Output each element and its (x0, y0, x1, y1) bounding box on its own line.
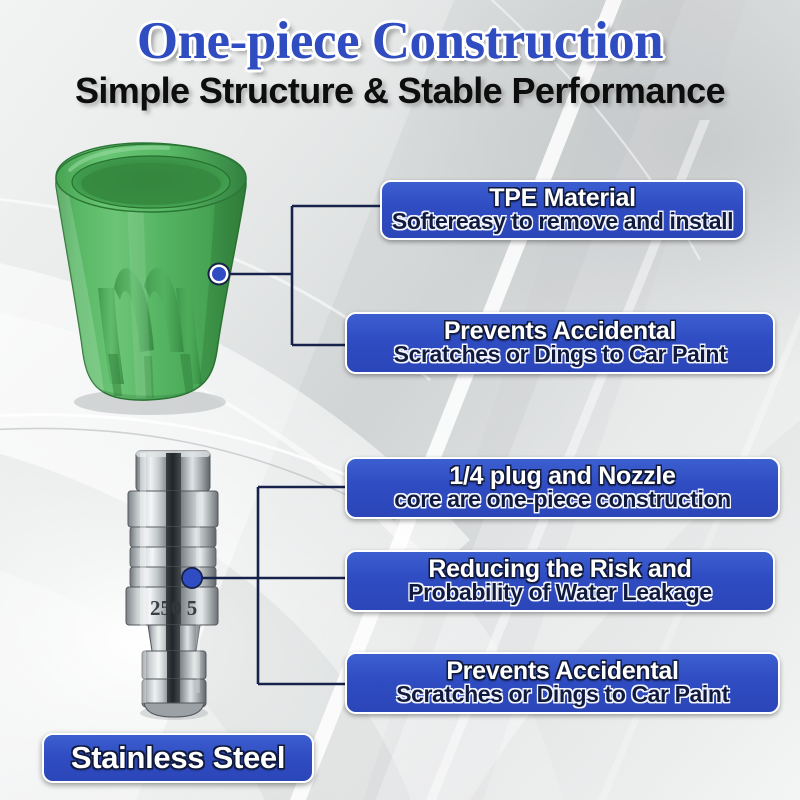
marker-steel-plug (181, 567, 203, 589)
infographic-canvas: One-piece Construction Simple Structure … (0, 0, 800, 800)
callout-tpe-material[interactable]: TPE Material Softereasy to remove and in… (380, 180, 745, 240)
page-subtitle: Simple Structure & Stable Performance (0, 70, 800, 112)
heading-block: One-piece Construction Simple Structure … (0, 14, 800, 112)
callout-line2: Probability of Water Leakage (408, 580, 712, 604)
callout-line2: Scratches or Dings to Car Paint (396, 682, 729, 706)
callout-prevents-accidental-top[interactable]: Prevents Accidental Scratches or Dings t… (345, 312, 775, 374)
callout-line2: Softereasy to remove and install (392, 209, 733, 233)
callout-prevents-accidental-bottom[interactable]: Prevents Accidental Scratches or Dings t… (345, 652, 780, 714)
callout-reducing-risk[interactable]: Reducing the Risk and Probability of Wat… (345, 550, 775, 612)
stainless-steel-badge[interactable]: Stainless Steel (42, 733, 314, 783)
stainless-steel-quick-connect-plug: 250 5 (110, 445, 240, 720)
callout-plug-and-nozzle[interactable]: 1/4 plug and Nozzle core are one-piece c… (345, 457, 780, 519)
badge-label: Stainless Steel (71, 740, 285, 776)
callout-line2: Scratches or Dings to Car Paint (394, 342, 727, 366)
page-title: One-piece Construction (0, 14, 800, 68)
marker-nozzle-cover (208, 263, 231, 286)
plug-engraving: 250 5 (150, 596, 197, 620)
green-tpe-nozzle-cover (40, 140, 290, 415)
callout-line2: core are one-piece construction (394, 487, 731, 511)
